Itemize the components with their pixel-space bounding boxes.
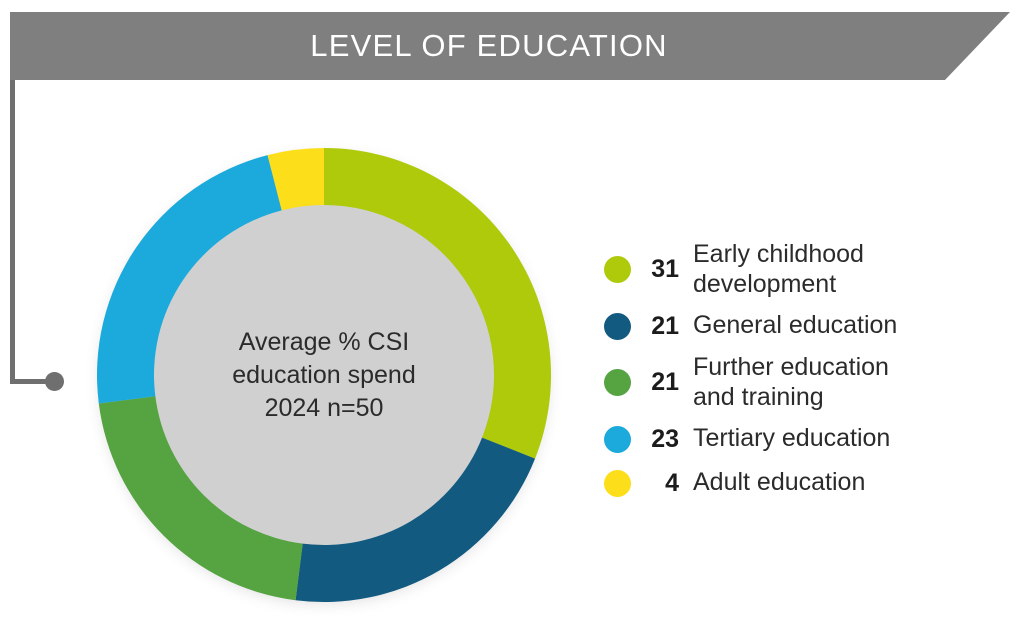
legend-item[interactable]: 21General education xyxy=(604,309,1004,343)
legend-value: 4 xyxy=(631,469,693,498)
donut-slice[interactable] xyxy=(99,396,303,600)
legend-value: 21 xyxy=(631,312,693,341)
legend-item[interactable]: 23Tertiary education xyxy=(604,422,1004,456)
legend-label-line-1: Adult education xyxy=(693,468,1004,498)
donut-slice[interactable] xyxy=(97,155,282,403)
legend-label-line-2: and training xyxy=(693,383,1004,413)
donut-chart: Average % CSI education spend 2024 n=50 xyxy=(97,148,551,602)
legend-color-swatch-icon xyxy=(604,313,631,340)
infographic-root: LEVEL OF EDUCATION Average % CSI educati… xyxy=(0,0,1024,631)
legend-label-line-2: development xyxy=(693,270,1004,300)
legend-label: Further educationand training xyxy=(693,353,1004,412)
legend-value: 23 xyxy=(631,425,693,454)
legend-color-swatch-icon xyxy=(604,369,631,396)
legend-label-line-1: Further education xyxy=(693,353,1004,383)
legend-label: Tertiary education xyxy=(693,424,1004,454)
donut-chart-svg xyxy=(97,148,551,602)
legend-value: 21 xyxy=(631,368,693,397)
donut-slice[interactable] xyxy=(324,148,551,459)
chart-legend: 31Early childhooddevelopment21General ed… xyxy=(604,240,1004,500)
legend-color-swatch-icon xyxy=(604,256,631,283)
legend-item[interactable]: 31Early childhooddevelopment xyxy=(604,240,1004,299)
connector-dot-icon xyxy=(45,372,64,391)
legend-label-line-1: Early childhood xyxy=(693,240,1004,270)
page-title: LEVEL OF EDUCATION xyxy=(310,28,710,64)
legend-label: General education xyxy=(693,311,1004,341)
donut-slice[interactable] xyxy=(296,438,536,602)
legend-item[interactable]: 4Adult education xyxy=(604,466,1004,500)
legend-color-swatch-icon xyxy=(604,470,631,497)
legend-label-line-1: Tertiary education xyxy=(693,424,1004,454)
legend-item[interactable]: 21Further educationand training xyxy=(604,353,1004,412)
legend-label-line-1: General education xyxy=(693,311,1004,341)
header-banner: LEVEL OF EDUCATION xyxy=(10,12,1010,80)
legend-value: 31 xyxy=(631,255,693,284)
legend-label: Early childhooddevelopment xyxy=(693,240,1004,299)
legend-color-swatch-icon xyxy=(604,426,631,453)
connector-vertical-line xyxy=(10,80,15,382)
legend-label: Adult education xyxy=(693,468,1004,498)
